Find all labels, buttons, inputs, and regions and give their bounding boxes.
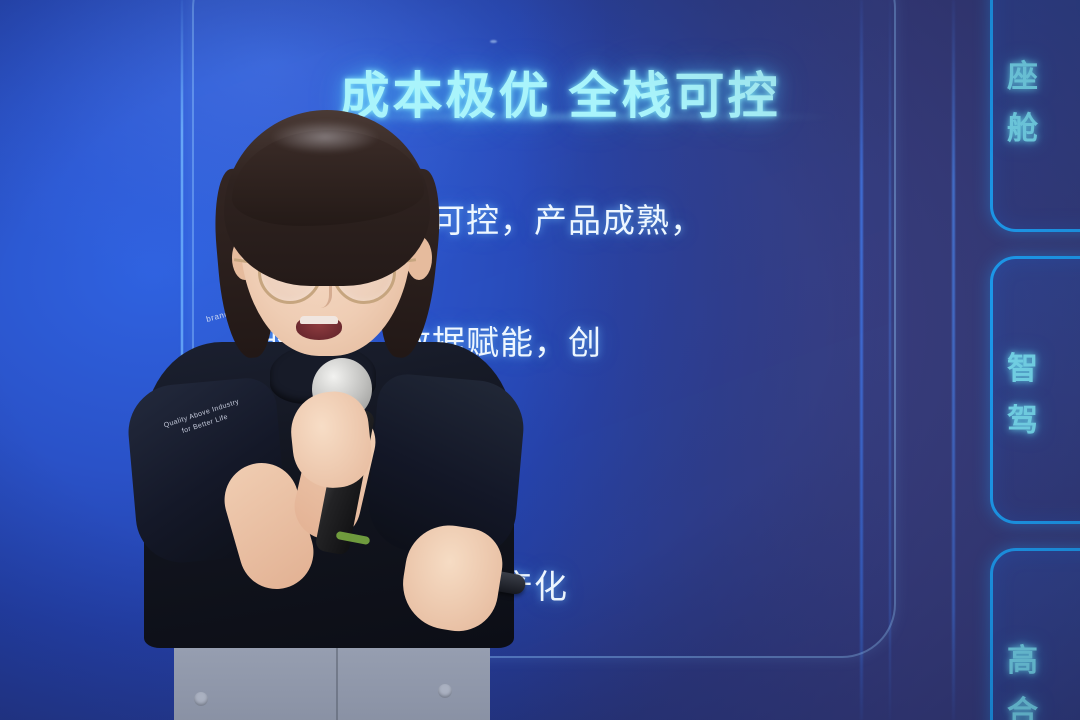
teeth: [300, 316, 338, 324]
skirt-button: [194, 692, 208, 706]
presenter-figure: Quality Above Industry for Better Life L…: [120, 96, 520, 720]
skirt-button: [438, 684, 452, 698]
presentation-screenshot: 成本极优 全栈可控 心技术自主可控，产品成熟， 发效率高 时复用，数据赋能，创 …: [0, 0, 1080, 720]
hair-sheen: [270, 120, 380, 154]
